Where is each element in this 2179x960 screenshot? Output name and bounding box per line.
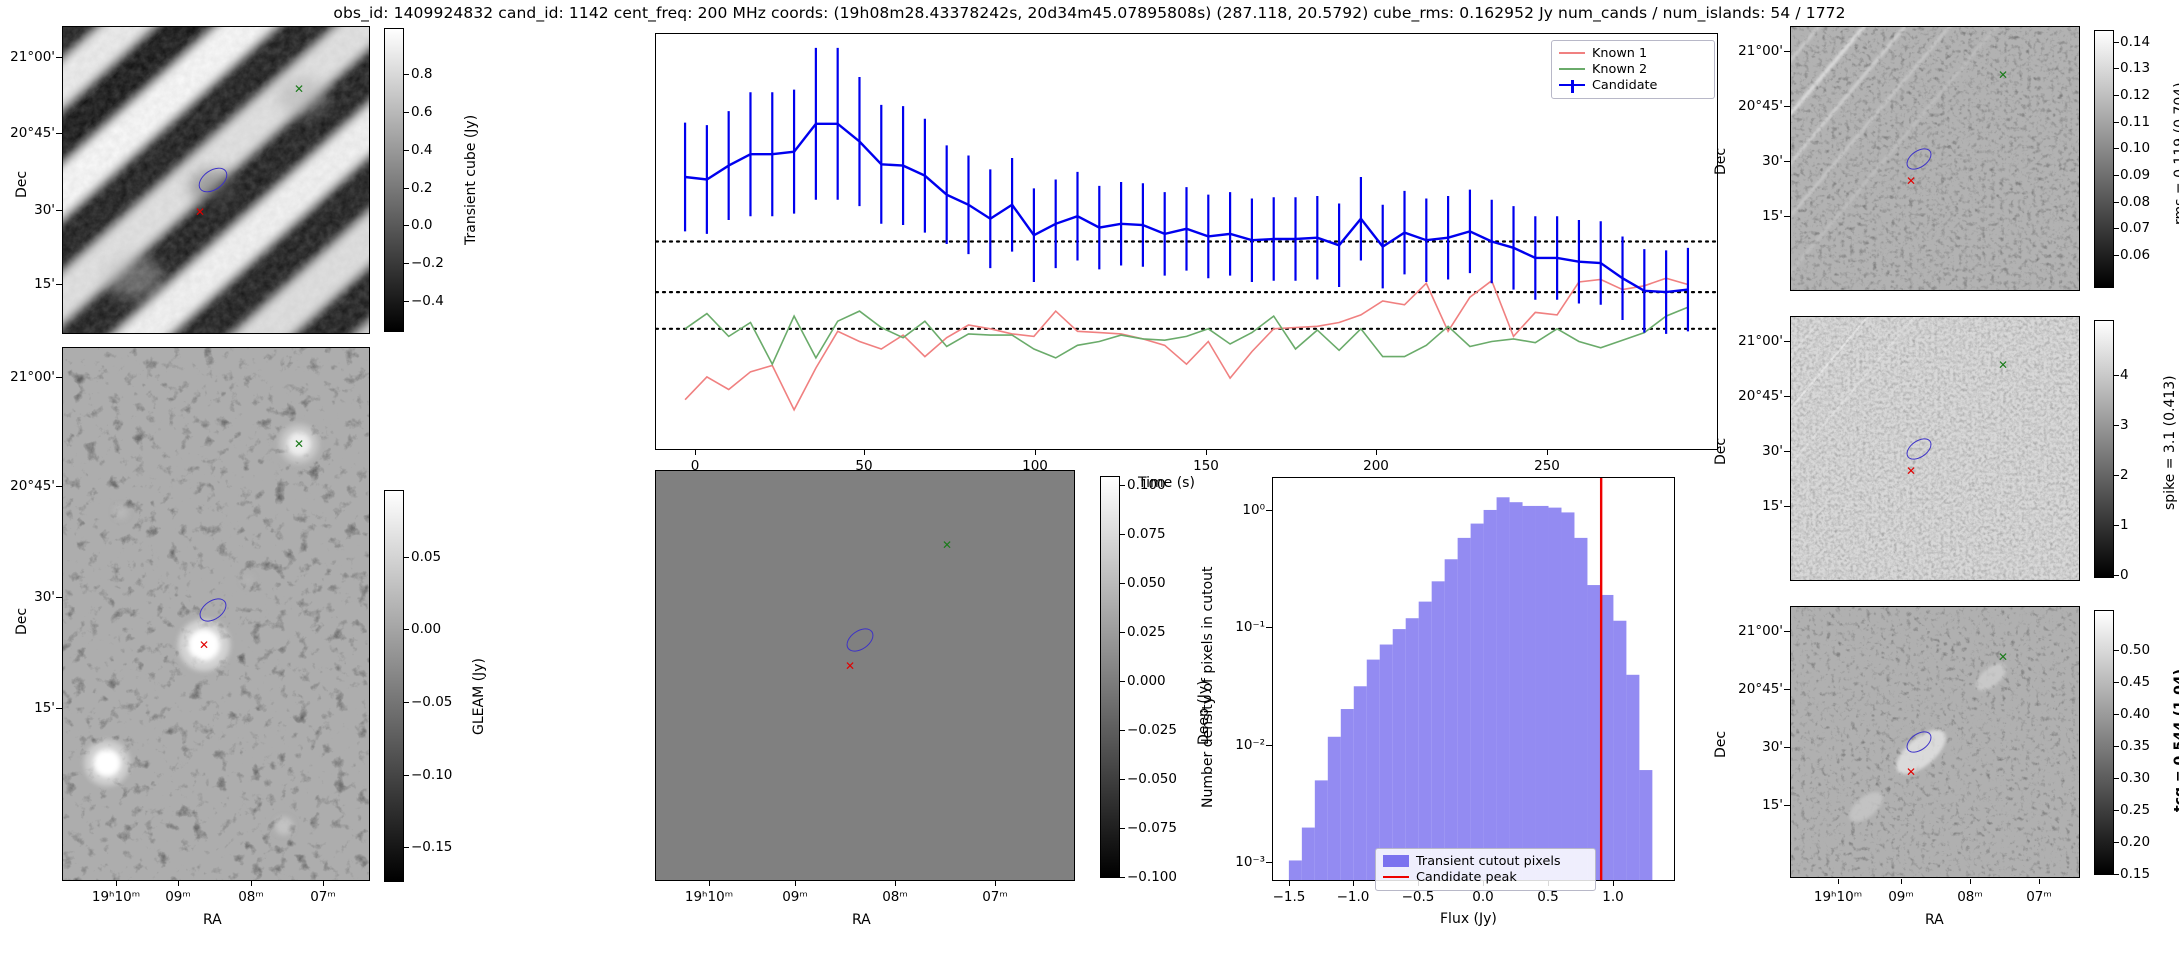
tcg-ytick-1: 20°45' <box>1725 681 1783 697</box>
legend-label-cutout-pixels: Transient cutout pixels <box>1416 854 1561 869</box>
cutout-pixels-swatch <box>1383 855 1409 867</box>
deep-cbtick-8: −0.100 <box>1127 869 1177 885</box>
flux-histogram-canvas <box>1273 478 1674 880</box>
tcg-ytick-3: 15' <box>1725 797 1783 813</box>
transient-cube-colorbar <box>384 28 404 332</box>
gleam-panel[interactable]: ✕ ✕ <box>62 347 370 881</box>
legend-item-candidate[interactable]: Candidate <box>1559 77 1707 93</box>
rms-cbtick-4: 0.10 <box>2120 140 2150 156</box>
deep-cbtick-3: 0.025 <box>1127 624 1166 640</box>
gleam-xtick-2: 08ᵐ <box>238 889 264 905</box>
spike-cbtick-1: 3 <box>2120 417 2129 433</box>
deep-colorbar <box>1100 476 1120 878</box>
tcg-xlabel: RA <box>1925 912 1944 928</box>
legend-item-known2[interactable]: Known 2 <box>1559 61 1707 77</box>
gleam-cbtick-0: 0.05 <box>411 549 441 565</box>
gleam-ytick-2: 30' <box>0 589 55 605</box>
tcg-xtick-1: 09ᵐ <box>1888 889 1914 905</box>
gleam-ylabel: Dec <box>14 608 30 635</box>
spike-ytick-1: 20°45' <box>1725 388 1783 404</box>
gleam-xlabel: RA <box>203 912 222 928</box>
rms-cbtick-2: 0.12 <box>2120 87 2150 103</box>
lightcurve-legend[interactable]: Known 1 Known 2 Candidate <box>1551 40 1715 99</box>
gleam-cbtick-2: −0.05 <box>411 694 452 710</box>
transient-cube-ytick-1: 20°45' <box>0 125 55 141</box>
tcg-panel[interactable]: ✕ ✕ <box>1790 606 2080 878</box>
deep-xtick-0: 19ʰ10ᵐ <box>685 889 733 905</box>
transient-cube-ytick-0: 21°00' <box>0 49 55 65</box>
deep-xtick-3: 07ᵐ <box>982 889 1008 905</box>
rms-cbtick-0: 0.14 <box>2120 34 2150 50</box>
tcg-cbtick-5: 0.25 <box>2120 802 2150 818</box>
rms-ytick-1: 20°45' <box>1725 98 1783 114</box>
spike-cbtick-3: 1 <box>2120 517 2129 533</box>
rms-cbtick-1: 0.13 <box>2120 60 2150 76</box>
tcg-candidate-position-marker: ✕ <box>1906 766 1916 778</box>
tcg-ytick-2: 30' <box>1725 739 1783 755</box>
rms-colorbar-label: rms = 0.119 (0.704) <box>2172 82 2179 225</box>
tcg-cbtick-2: 0.40 <box>2120 706 2150 722</box>
deep-cbtick-5: −0.025 <box>1127 722 1177 738</box>
legend-item-known1[interactable]: Known 1 <box>1559 45 1707 61</box>
tcg-image <box>1791 607 2079 877</box>
tcg-known-source-marker: ✕ <box>1998 651 2008 663</box>
legend-label-candidate-peak: Candidate peak <box>1416 870 1517 885</box>
tcg-cbtick-4: 0.30 <box>2120 770 2150 786</box>
rms-colorbar <box>2094 30 2114 288</box>
transient-cube-ytick-3: 15' <box>0 276 55 292</box>
deep-candidate-position-marker: ✕ <box>845 660 855 672</box>
tcg-cbtick-6: 0.20 <box>2120 834 2150 850</box>
deep-source-ellipse-overlay <box>842 624 877 657</box>
tcg-xtick-3: 07ᵐ <box>2026 889 2052 905</box>
rms-panel[interactable]: ✕ ✕ <box>1790 26 2080 291</box>
tcg-ylabel: Dec <box>1713 731 1729 758</box>
lightcurve-xtick-3: 150 <box>1193 458 1219 474</box>
transient-cube-cbtick-0: 0.8 <box>411 66 432 82</box>
legend-label-known1: Known 1 <box>1592 46 1647 61</box>
gleam-candidate-position-marker: ✕ <box>199 639 209 651</box>
hist-xtick-3: 0.0 <box>1472 889 1493 905</box>
transient-cube-cbtick-6: −0.4 <box>411 293 444 309</box>
gleam-colorbar-label: GLEAM (Jy) <box>471 658 487 735</box>
deep-xlabel: RA <box>852 912 871 928</box>
deep-cbtick-6: −0.050 <box>1127 771 1177 787</box>
spike-colorbar-label: spike = 3.1 (0.413) <box>2162 375 2178 510</box>
legend-label-known2: Known 2 <box>1592 62 1647 77</box>
rms-candidate-position-marker: ✕ <box>1906 175 1916 187</box>
rms-cbtick-8: 0.06 <box>2120 247 2150 263</box>
hist-ytick-1: 10⁻¹ <box>1215 619 1265 635</box>
spike-cbtick-2: 2 <box>2120 467 2129 483</box>
lightcurve-xtick-4: 200 <box>1363 458 1389 474</box>
gleam-xtick-0: 19ʰ10ᵐ <box>92 889 140 905</box>
rms-ytick-3: 15' <box>1725 208 1783 224</box>
lightcurve-xtick-5: 250 <box>1534 458 1560 474</box>
tcg-cbtick-0: 0.50 <box>2120 642 2150 658</box>
transient-cube-cbtick-1: 0.6 <box>411 104 432 120</box>
hist-ytick-3: 10⁻³ <box>1215 854 1265 870</box>
hist-xtick-4: 0.5 <box>1537 889 1558 905</box>
legend-label-candidate: Candidate <box>1592 78 1657 93</box>
deep-known-source-marker: ✕ <box>942 539 952 551</box>
deep-xtick-1: 09ᵐ <box>782 889 808 905</box>
transient-cube-colorbar-label: Transient cube (Jy) <box>463 115 479 245</box>
page-title: obs_id: 1409924832 cand_id: 1142 cent_fr… <box>0 4 2179 22</box>
spike-ytick-2: 30' <box>1725 443 1783 459</box>
transient-cube-cbtick-2: 0.4 <box>411 142 432 158</box>
spike-ytick-3: 15' <box>1725 498 1783 514</box>
spike-ylabel: Dec <box>1713 438 1729 465</box>
known-source-marker: ✕ <box>294 83 304 95</box>
tcg-cbtick-1: 0.45 <box>2120 674 2150 690</box>
tcg-cbtick-7: 0.15 <box>2120 866 2150 882</box>
gleam-colorbar <box>384 490 404 882</box>
hist-xtick-2: −0.5 <box>1402 889 1435 905</box>
known2-line-swatch <box>1559 68 1585 70</box>
hist-ytick-2: 10⁻² <box>1215 737 1265 753</box>
rms-cbtick-7: 0.07 <box>2120 220 2150 236</box>
tcg-colorbar <box>2094 610 2114 875</box>
rms-ytick-2: 30' <box>1725 153 1783 169</box>
spike-image <box>1791 317 2079 580</box>
spike-cbtick-4: 0 <box>2120 567 2129 583</box>
histogram-legend[interactable]: Transient cutout pixels Candidate peak <box>1375 848 1596 891</box>
deep-cbtick-4: 0.000 <box>1127 673 1166 689</box>
rms-ylabel: Dec <box>1713 148 1729 175</box>
gleam-ytick-1: 20°45' <box>0 478 55 494</box>
rms-cbtick-5: 0.09 <box>2120 167 2150 183</box>
gleam-cbtick-1: 0.00 <box>411 621 441 637</box>
gleam-cbtick-4: −0.15 <box>411 839 452 855</box>
hist-ylabel: Number density of pixels in cutout <box>1200 567 1216 809</box>
gleam-xtick-1: 09ᵐ <box>165 889 191 905</box>
rms-image <box>1791 27 2079 290</box>
gleam-ytick-3: 15' <box>0 700 55 716</box>
candidate-peak-swatch <box>1383 876 1409 878</box>
hist-xlabel: Flux (Jy) <box>1440 911 1497 927</box>
deep-panel[interactable]: ✕ ✕ <box>655 470 1075 881</box>
spike-candidate-position-marker: ✕ <box>1906 465 1916 477</box>
hist-xtick-5: 1.0 <box>1602 889 1623 905</box>
gleam-known-source-marker: ✕ <box>294 438 304 450</box>
gleam-cbtick-3: −0.10 <box>411 767 452 783</box>
rms-known-source-marker: ✕ <box>1998 69 2008 81</box>
candidate-errorbar-swatch <box>1559 84 1585 86</box>
gleam-xtick-3: 07ᵐ <box>310 889 336 905</box>
spike-known-source-marker: ✕ <box>1998 359 2008 371</box>
tcg-colorbar-label: tcg = 0.544 (1.04) <box>2172 669 2179 812</box>
candidate-position-marker: ✕ <box>195 206 205 218</box>
hist-xtick-1: −1.0 <box>1337 889 1370 905</box>
spike-colorbar <box>2094 320 2114 578</box>
hist-ytick-0: 10⁰ <box>1215 502 1265 518</box>
deep-cbtick-0: 0.100 <box>1127 477 1166 493</box>
rms-cbtick-3: 0.11 <box>2120 114 2150 130</box>
transient-cube-panel[interactable]: ✕ ✕ <box>62 26 370 334</box>
flux-histogram-plot[interactable] <box>1272 477 1675 881</box>
deep-cbtick-7: −0.075 <box>1127 820 1177 836</box>
legend-item-candidate-peak[interactable]: Candidate peak <box>1383 869 1588 885</box>
tcg-cbtick-3: 0.35 <box>2120 738 2150 754</box>
tcg-xtick-2: 08ᵐ <box>1957 889 1983 905</box>
rms-cbtick-6: 0.08 <box>2120 194 2150 210</box>
tcg-xtick-0: 19ʰ10ᵐ <box>1814 889 1862 905</box>
legend-item-cutout-pixels[interactable]: Transient cutout pixels <box>1383 853 1588 869</box>
transient-cube-ytick-2: 30' <box>0 202 55 218</box>
deep-cbtick-2: 0.050 <box>1127 575 1166 591</box>
transient-cube-ylabel: Dec <box>14 171 30 198</box>
rms-ytick-0: 21°00' <box>1725 43 1783 59</box>
gleam-ytick-0: 21°00' <box>0 369 55 385</box>
deep-xtick-2: 08ᵐ <box>882 889 908 905</box>
spike-cbtick-0: 4 <box>2120 367 2129 383</box>
tcg-ytick-0: 21°00' <box>1725 623 1783 639</box>
spike-panel[interactable]: ✕ ✕ <box>1790 316 2080 581</box>
deep-cbtick-1: 0.075 <box>1127 526 1166 542</box>
spike-ytick-0: 21°00' <box>1725 333 1783 349</box>
transient-cube-cbtick-5: −0.2 <box>411 255 444 271</box>
transient-cube-cbtick-4: 0.0 <box>411 217 432 233</box>
transient-cube-cbtick-3: 0.2 <box>411 180 432 196</box>
known1-line-swatch <box>1559 52 1585 54</box>
hist-xtick-0: −1.5 <box>1273 889 1306 905</box>
